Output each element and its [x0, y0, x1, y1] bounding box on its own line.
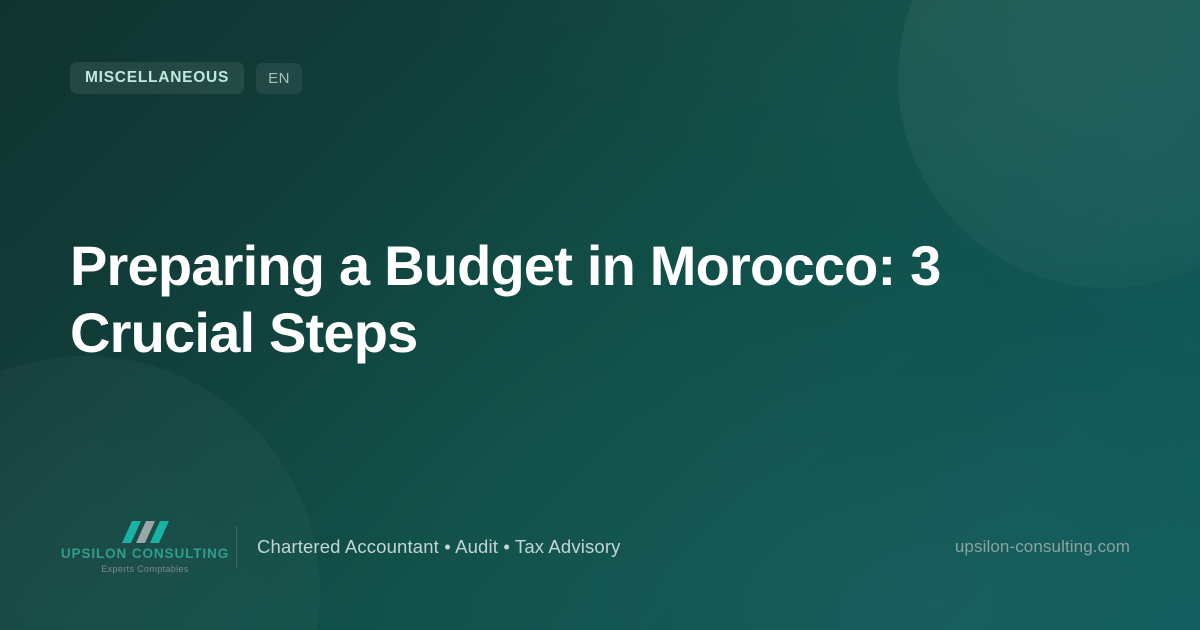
- footer: UPSILON CONSULTING Experts Comptables Ch…: [70, 516, 1130, 578]
- services-list: Chartered Accountant • Audit • Tax Advis…: [257, 536, 621, 558]
- site-url[interactable]: upsilon-consulting.com: [955, 537, 1130, 557]
- decorative-circle-bottom-left: [0, 356, 320, 630]
- language-badge[interactable]: EN: [256, 63, 302, 94]
- page-title: Preparing a Budget in Morocco: 3 Crucial…: [70, 232, 1080, 366]
- category-badge[interactable]: MISCELLANEOUS: [70, 62, 244, 94]
- social-share-card: MISCELLANEOUS EN Preparing a Budget in M…: [0, 0, 1200, 630]
- upsilon-logo-mark-icon: [110, 519, 180, 545]
- meta-row: MISCELLANEOUS EN: [70, 62, 302, 94]
- brand-logo[interactable]: UPSILON CONSULTING Experts Comptables: [70, 519, 220, 575]
- brand-tagline: Experts Comptables: [101, 563, 188, 576]
- brand-name: UPSILON CONSULTING: [61, 547, 229, 562]
- footer-divider: [236, 526, 237, 568]
